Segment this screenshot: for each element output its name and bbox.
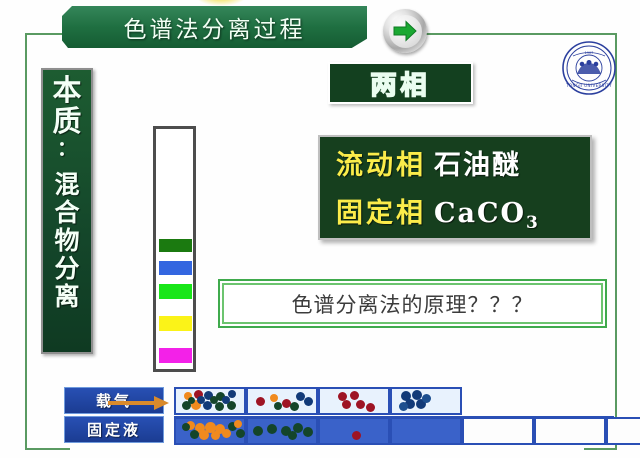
chromatography-column xyxy=(153,126,196,372)
tube-dot-top1-3 xyxy=(296,392,305,401)
mobile-phase-label: 流动相 xyxy=(336,143,426,182)
tube-dot-bot0-5 xyxy=(211,431,220,440)
essence-panel: 本 质 ： 混 合 物 分 离 xyxy=(41,68,93,354)
essence-body-char-2: 物 xyxy=(54,228,79,253)
two-phase-label-box: 两相 xyxy=(328,62,473,104)
tube-dot-bot1-4 xyxy=(303,427,313,437)
tube-dot-bot0-10 xyxy=(236,429,245,438)
green-right-arrow-icon xyxy=(393,20,417,42)
band-yellow xyxy=(159,316,192,331)
tube-dot-top0-12 xyxy=(222,396,230,404)
essence-char-1: 质 xyxy=(52,107,81,136)
essence-body-char-1: 合 xyxy=(54,200,79,225)
tube-cell-bottom-6 xyxy=(606,417,640,445)
band-dark-green xyxy=(159,239,192,252)
essence-body-char-4: 离 xyxy=(54,284,79,309)
essence-char-0: 本 xyxy=(52,76,81,105)
mobile-phase-value: 石油醚 xyxy=(434,143,521,182)
orange-right-arrow-icon xyxy=(108,395,170,411)
stationary-phase-formula: CaCO xyxy=(434,198,526,229)
stationary-phase-subscript: 3 xyxy=(526,213,540,233)
title-glow xyxy=(195,0,247,6)
page-title: 色谱法分离过程 xyxy=(124,10,306,44)
frame-top-left-line xyxy=(25,33,66,35)
stationary-liquid-label: 固定液 xyxy=(87,419,141,440)
svg-text:1907: 1907 xyxy=(585,51,594,55)
tube-dot-top2-4 xyxy=(366,403,375,412)
tube-dot-top2-2 xyxy=(342,400,351,409)
band-green xyxy=(159,284,192,299)
question-box: 色谱分离法的原理？？？ xyxy=(218,279,607,328)
slide-title-banner: 色谱法分离过程 xyxy=(62,6,367,48)
next-slide-button[interactable] xyxy=(383,9,427,53)
tube-dot-top1-5 xyxy=(290,402,299,411)
tube-dot-top0-10 xyxy=(197,396,205,404)
tube-dot-top1-0 xyxy=(256,397,265,406)
tube-dot-top1-4 xyxy=(304,397,313,406)
essence-body: 混 合 物 分 离 xyxy=(54,172,79,312)
tube-dot-top3-4 xyxy=(422,394,431,403)
essence-heading: 本 质 ： xyxy=(52,76,81,160)
next-button-inner xyxy=(389,15,422,48)
legend-cell-stationary-liquid: 固定液 xyxy=(64,416,164,443)
stationary-phase-label: 固定相 xyxy=(336,191,426,230)
essence-body-char-0: 混 xyxy=(54,172,79,197)
university-seal-logo: 1907 TONGJI UNIVERSITY xyxy=(561,40,617,96)
two-phase-label: 两相 xyxy=(370,65,430,102)
tube-dot-bot1-0 xyxy=(253,426,263,436)
tube-dot-bot0-6 xyxy=(190,430,199,439)
band-magenta xyxy=(159,348,192,363)
tube-dot-top2-1 xyxy=(350,391,359,400)
phase-row-stationary: 固定相 CaCO3 xyxy=(336,191,590,233)
tube-dot-bot0-7 xyxy=(182,423,190,431)
tube-dot-top1-6 xyxy=(274,402,282,410)
tube-dot-bot0-11 xyxy=(234,420,242,428)
diagram-legend: 载气 固定液 xyxy=(64,387,164,445)
phase-row-mobile: 流动相 石油醚 xyxy=(336,143,590,182)
tube-cell-bottom-4 xyxy=(462,417,534,445)
tube-cell-bottom-3 xyxy=(390,417,462,445)
phases-box: 流动相 石油醚 固定相 CaCO3 xyxy=(318,135,592,240)
tube-guide-line-top xyxy=(174,416,614,418)
tube-dot-bot1-5 xyxy=(288,431,297,440)
question-text: 色谱分离法的原理？？？ xyxy=(292,289,534,319)
bottom-diagram: 载气 固定液 xyxy=(58,385,618,453)
tube-dot-bot0-4 xyxy=(199,430,209,440)
stationary-phase-value: CaCO3 xyxy=(434,198,540,233)
tube-dot-bot2-0 xyxy=(352,431,361,440)
frame-top-right-line xyxy=(424,33,617,35)
seal-caption: TONGJI UNIVERSITY xyxy=(565,83,612,88)
tube-dot-top0-11 xyxy=(210,396,218,404)
essence-body-char-3: 分 xyxy=(54,256,79,281)
tube-dot-top2-3 xyxy=(356,400,365,409)
slide-canvas: 色谱法分离过程 1907 TONGJI UNIVERSITY 本 质 xyxy=(0,0,640,458)
tube-cell-bottom-5 xyxy=(534,417,606,445)
essence-char-2: ： xyxy=(57,138,77,158)
frame-left-line xyxy=(25,33,27,450)
tube-dot-top1-1 xyxy=(270,394,278,402)
tube-dot-bot1-1 xyxy=(267,424,277,434)
tube-dot-top3-5 xyxy=(399,402,408,411)
band-blue xyxy=(159,261,192,275)
tube-dot-top0-13 xyxy=(188,397,195,404)
separation-tube xyxy=(174,387,614,446)
